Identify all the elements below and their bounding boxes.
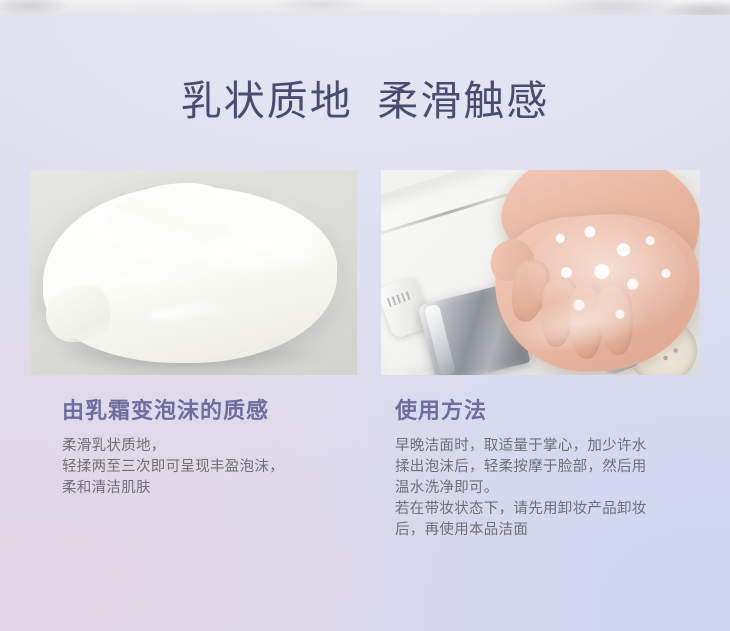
usage-section-heading: 使用方法 (395, 398, 700, 424)
cream-highlight-4 (148, 296, 243, 323)
texture-line-2: 轻揉两至三次即可呈现丰盈泡沫， (62, 457, 362, 478)
hands-foam-photo (381, 170, 700, 375)
page-title: 乳状质地 柔滑触感 (0, 79, 730, 124)
texture-section-heading: 由乳霜变泡沫的质感 (62, 398, 362, 424)
texture-line-3: 柔和清洁肌肤 (62, 478, 362, 499)
usage-section-body: 早晚洁面时，取适量于掌心，加少许水 揉出泡沫后，轻柔按摩于脸部，然后用 温水洗净… (395, 436, 700, 541)
usage-line-5: 后，再使用本品洁面 (395, 520, 700, 541)
texture-section-body: 柔滑乳状质地， 轻揉两至三次即可呈现丰盈泡沫， 柔和清洁肌肤 (62, 436, 362, 499)
usage-section: 使用方法 早晚洁面时，取适量于掌心，加少许水 揉出泡沫后，轻柔按摩于脸部，然后用… (395, 398, 700, 541)
texture-section: 由乳霜变泡沫的质感 柔滑乳状质地， 轻揉两至三次即可呈现丰盈泡沫， 柔和清洁肌肤 (62, 398, 362, 499)
cream-texture-photo (30, 170, 357, 375)
texture-line-1: 柔滑乳状质地， (62, 436, 362, 457)
usage-line-1: 早晚洁面时，取适量于掌心，加少许水 (395, 436, 700, 457)
cream-highlight-3 (213, 241, 291, 275)
product-detail-page: 乳状质地 柔滑触感 由乳霜变泡沫 (0, 0, 730, 631)
section-divider-texture-strip (0, 0, 730, 15)
usage-line-4: 若在带妆状态下，请先用卸妆产品卸妆 (395, 499, 700, 520)
usage-line-3: 温水洗净即可。 (395, 478, 700, 499)
cream-highlight-2 (119, 255, 208, 287)
cream-tail (46, 285, 111, 341)
cream-main-body (43, 186, 337, 362)
usage-line-2: 揉出泡沫后，轻柔按摩于脸部，然后用 (395, 457, 700, 478)
